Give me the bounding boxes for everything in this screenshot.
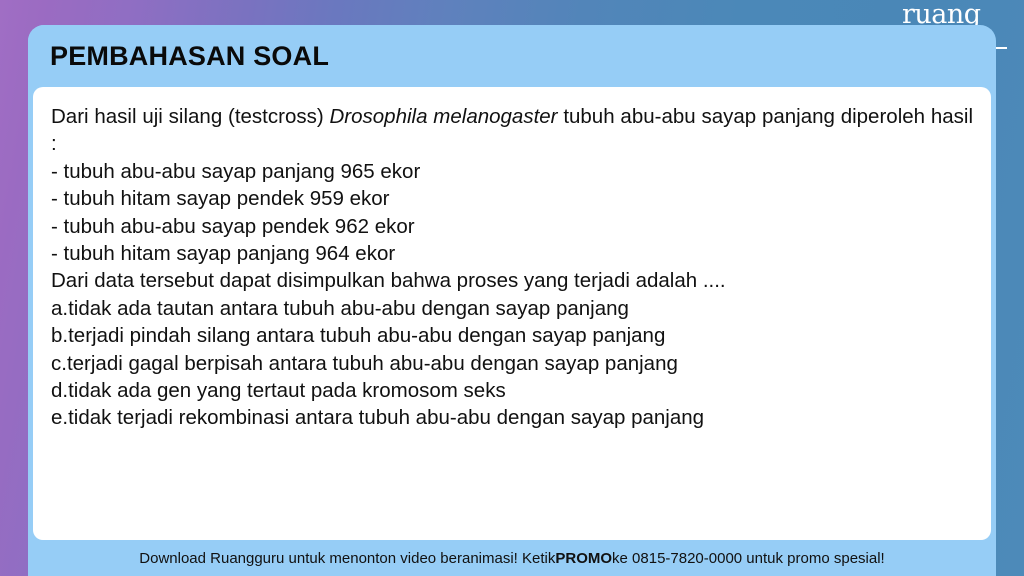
option-text: tidak ada gen yang tertaut pada kromosom…	[68, 379, 506, 402]
question-sheet: Dari hasil uji silang (testcross) Drosop…	[33, 87, 991, 540]
data-line: - tubuh abu-abu sayap panjang 965 ekor	[51, 158, 973, 185]
answer-option-a[interactable]: a.tidak ada tautan antara tubuh abu-abu …	[51, 295, 973, 322]
option-label: d.	[51, 379, 68, 402]
promo-text-part1: Download Ruangguru untuk menonton video …	[139, 550, 555, 567]
answer-option-c[interactable]: c.terjadi gagal berpisah antara tubuh ab…	[51, 350, 973, 377]
answer-option-d[interactable]: d.tidak ada gen yang tertaut pada kromos…	[51, 377, 973, 404]
data-line: - tubuh hitam sayap panjang 964 ekor	[51, 240, 973, 267]
promo-keyword: PROMO	[555, 550, 612, 567]
question-body: Dari hasil uji silang (testcross) Drosop…	[51, 103, 973, 432]
data-line: - tubuh hitam sayap pendek 959 ekor	[51, 185, 973, 212]
option-label: a.	[51, 297, 68, 320]
answer-option-b[interactable]: b.terjadi pindah silang antara tubuh abu…	[51, 322, 973, 349]
promo-text-part2: ke 0815-7820-0000 untuk promo spesial!	[612, 550, 885, 567]
intro-text-lead: Dari hasil uji silang (testcross)	[51, 105, 330, 128]
question-prompt: Dari data tersebut dapat disimpulkan bah…	[51, 267, 973, 294]
intro-paragraph: Dari hasil uji silang (testcross) Drosop…	[51, 103, 973, 158]
promo-footer: Download Ruangguru untuk menonton video …	[28, 540, 996, 576]
option-label: e.	[51, 406, 68, 429]
option-label: b.	[51, 324, 68, 347]
slide-root: ruang guru PEMBAHASAN SOAL Dari hasil uj…	[0, 0, 1024, 576]
species-name: Drosophila melanogaster	[330, 105, 558, 128]
option-text: tidak terjadi rekombinasi antara tubuh a…	[68, 406, 704, 429]
title-tab: PEMBAHASAN SOAL	[28, 25, 358, 87]
option-text: terjadi pindah silang antara tubuh abu-a…	[68, 324, 665, 347]
page-title: PEMBAHASAN SOAL	[50, 41, 329, 72]
option-text: tidak ada tautan antara tubuh abu-abu de…	[68, 297, 629, 320]
option-label: c.	[51, 352, 67, 375]
option-text: terjadi gagal berpisah antara tubuh abu-…	[67, 352, 678, 375]
answer-option-e[interactable]: e.tidak terjadi rekombinasi antara tubuh…	[51, 404, 973, 431]
data-line: - tubuh abu-abu sayap pendek 962 ekor	[51, 213, 973, 240]
content-card: PEMBAHASAN SOAL Dari hasil uji silang (t…	[28, 25, 996, 576]
